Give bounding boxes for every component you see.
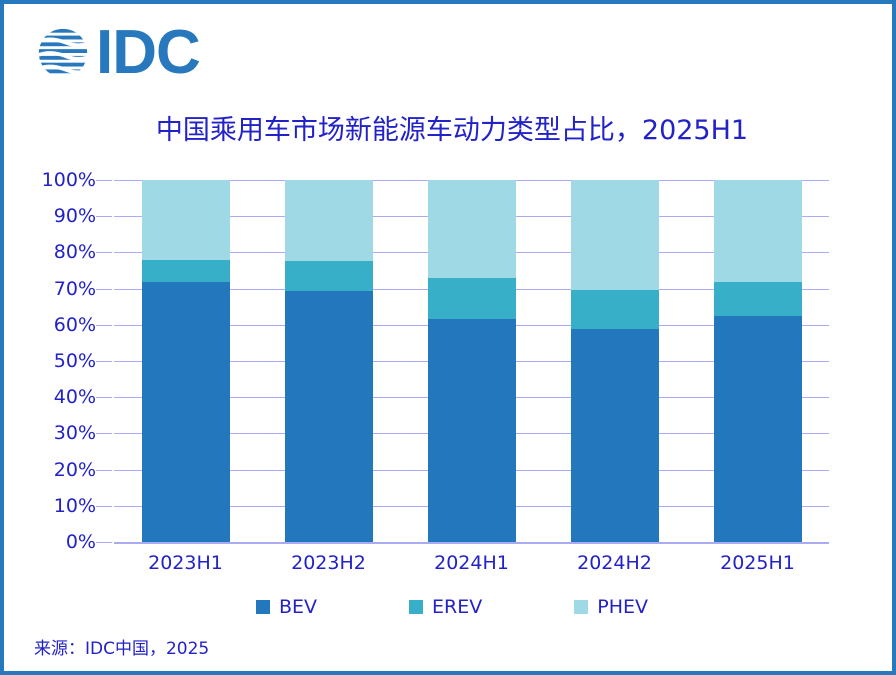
chart-frame: IDC 中国乘用车市场新能源车动力类型占比，2025H1 100% 90% 80…	[0, 0, 896, 675]
bar-segment-bev[interactable]	[142, 282, 230, 542]
legend-swatch-erev-icon	[409, 600, 423, 614]
legend-label-phev: PHEV	[597, 596, 648, 618]
y-tick-label: 70%	[54, 278, 96, 300]
bar-segment-phev[interactable]	[571, 180, 659, 290]
idc-globe-icon	[34, 24, 92, 82]
y-tick-label: 60%	[54, 314, 96, 336]
bar-segment-bev[interactable]	[428, 319, 516, 542]
chart-title: 中国乘用车市场新能源车动力类型占比，2025H1	[4, 108, 896, 147]
legend-label-erev: EREV	[432, 596, 482, 618]
source-note: 来源：IDC中国，2025	[34, 634, 209, 659]
y-tick-mark	[96, 470, 112, 471]
y-tick-label: 50%	[54, 350, 96, 372]
bar-segment-bev[interactable]	[571, 329, 659, 542]
bar-segment-erev[interactable]	[571, 290, 659, 329]
y-tick-label: 80%	[54, 241, 96, 263]
y-axis-labels: 100% 90% 80% 70% 60% 50% 40% 30% 20% 10%…	[24, 180, 96, 542]
plot-area	[114, 180, 829, 542]
bar-segment-phev[interactable]	[285, 180, 373, 261]
bar-slot	[543, 180, 686, 542]
stacked-bar[interactable]	[285, 180, 373, 542]
y-tick-mark	[96, 289, 112, 290]
y-tick-mark	[96, 252, 112, 253]
y-tick-label: 20%	[54, 459, 96, 481]
y-tick-label: 30%	[54, 422, 96, 444]
x-tick-label: 2024H1	[400, 552, 543, 582]
x-axis-labels: 2023H1 2023H2 2024H1 2024H2 2025H1	[114, 552, 829, 582]
bar-segment-phev[interactable]	[428, 180, 516, 278]
y-tick-mark	[96, 180, 112, 181]
stacked-bar[interactable]	[428, 180, 516, 542]
y-tick-mark	[96, 325, 112, 326]
bar-group	[114, 180, 829, 542]
y-tick-label: 40%	[54, 386, 96, 408]
bar-slot	[257, 180, 400, 542]
bar-segment-phev[interactable]	[142, 180, 230, 260]
y-tick-mark	[96, 506, 112, 507]
bar-segment-bev[interactable]	[714, 316, 802, 542]
y-tick-mark	[96, 216, 112, 217]
legend-item-phev[interactable]: PHEV	[574, 596, 648, 618]
y-tick-label: 100%	[42, 169, 96, 191]
x-axis-line	[114, 542, 829, 544]
legend-item-erev[interactable]: EREV	[409, 596, 482, 618]
stacked-bar[interactable]	[142, 180, 230, 542]
idc-logo-text: IDC	[96, 24, 200, 82]
y-tick-label: 0%	[66, 531, 96, 553]
stacked-bar[interactable]	[571, 180, 659, 542]
chart-legend: BEV EREV PHEV	[4, 596, 896, 618]
bar-segment-erev[interactable]	[714, 282, 802, 316]
y-tick-mark	[96, 361, 112, 362]
x-tick-label: 2023H1	[114, 552, 257, 582]
legend-swatch-phev-icon	[574, 600, 588, 614]
y-tick-label: 10%	[54, 495, 96, 517]
idc-logo: IDC	[34, 24, 200, 82]
y-tick-mark	[96, 433, 112, 434]
bar-segment-erev[interactable]	[428, 278, 516, 319]
y-tick-mark	[96, 542, 112, 543]
bar-slot	[114, 180, 257, 542]
x-tick-label: 2023H2	[257, 552, 400, 582]
y-tick-label: 90%	[54, 205, 96, 227]
bar-segment-erev[interactable]	[285, 261, 373, 291]
legend-swatch-bev-icon	[256, 600, 270, 614]
legend-label-bev: BEV	[279, 596, 317, 618]
y-tick-mark	[96, 397, 112, 398]
x-tick-label: 2024H2	[543, 552, 686, 582]
bar-slot	[400, 180, 543, 542]
bar-slot	[686, 180, 829, 542]
x-tick-label: 2025H1	[686, 552, 829, 582]
bar-segment-phev[interactable]	[714, 180, 802, 282]
bar-segment-bev[interactable]	[285, 291, 373, 542]
bar-segment-erev[interactable]	[142, 260, 230, 282]
stacked-bar[interactable]	[714, 180, 802, 542]
legend-item-bev[interactable]: BEV	[256, 596, 317, 618]
